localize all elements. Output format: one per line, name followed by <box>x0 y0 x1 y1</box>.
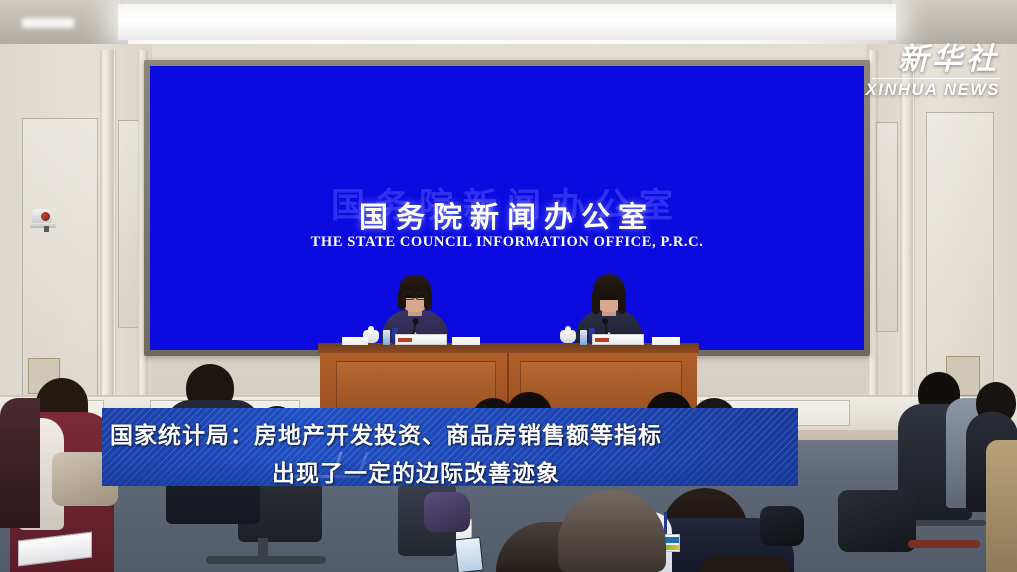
camera-mount-stem <box>44 226 49 232</box>
led-screen: 国务院新闻办公室 国务院新闻办公室 THE STATE COUNCIL INFO… <box>150 66 864 350</box>
wall-panel-right-inner <box>876 122 898 332</box>
document-left-b <box>452 337 480 345</box>
backpack-right <box>838 490 916 552</box>
ceiling-soffit <box>118 4 896 40</box>
water-glass-left <box>383 330 390 345</box>
xinhua-logo-en: XINHUA NEWS <box>860 81 1000 100</box>
xinhua-news-logo: 新华社 XINHUA NEWS <box>860 44 1000 106</box>
phone-center <box>454 537 483 572</box>
audience-body-left-3 <box>0 398 40 528</box>
pilaster-left-a <box>100 50 114 444</box>
ceiling-light-left <box>22 18 74 28</box>
speaker-right-hair-side-left <box>592 290 600 314</box>
chair-left-1-base <box>206 556 326 564</box>
lower-third-line-2: 出现了一定的边际改善迹象 <box>272 454 798 486</box>
nameplate-right <box>592 334 644 345</box>
pilaster-right-b-edge <box>912 50 915 444</box>
xinhua-logo-divider <box>872 78 1000 79</box>
speaker-right-hair-side-right <box>618 290 626 314</box>
ceiling-right-section <box>892 0 1017 46</box>
bag-right-small <box>760 506 804 546</box>
ceiling-left-section <box>0 0 120 46</box>
water-glass-right <box>580 330 587 345</box>
lower-third-line-1: 国家统计局：房地产开发投资、商品房销售额等指标 <box>110 416 798 450</box>
teapot-right <box>560 330 576 343</box>
audience-body-right-4 <box>986 440 1017 572</box>
led-screen-title-cn: 国务院新闻办公室 <box>150 194 864 236</box>
led-screen-title-en: THE STATE COUNCIL INFORMATION OFFICE, P.… <box>150 234 864 251</box>
bag-center <box>424 492 470 532</box>
document-left-a <box>342 337 368 345</box>
xinhua-logo-cn: 新华社 <box>860 44 1000 76</box>
chair-right-foot <box>908 540 980 548</box>
wall-camera <box>30 209 56 231</box>
nameplate-left <box>395 334 447 345</box>
lower-third-banner: 国家统计局：房地产开发投资、商品房销售额等指标 出现了一定的边际改善迹象 <box>102 408 798 486</box>
broadcast-frame: 国务院新闻办公室 国务院新闻办公室 THE STATE COUNCIL INFO… <box>0 0 1017 572</box>
camera-lens-icon <box>41 212 50 221</box>
wall-panel-left-inner <box>118 120 140 328</box>
pilaster-left-a-edge <box>113 50 116 444</box>
speaker-left-glasses <box>403 292 427 298</box>
audience-head-front-right-2 <box>700 556 790 572</box>
camera-mount-arm <box>30 223 56 228</box>
document-right-a <box>652 337 680 345</box>
